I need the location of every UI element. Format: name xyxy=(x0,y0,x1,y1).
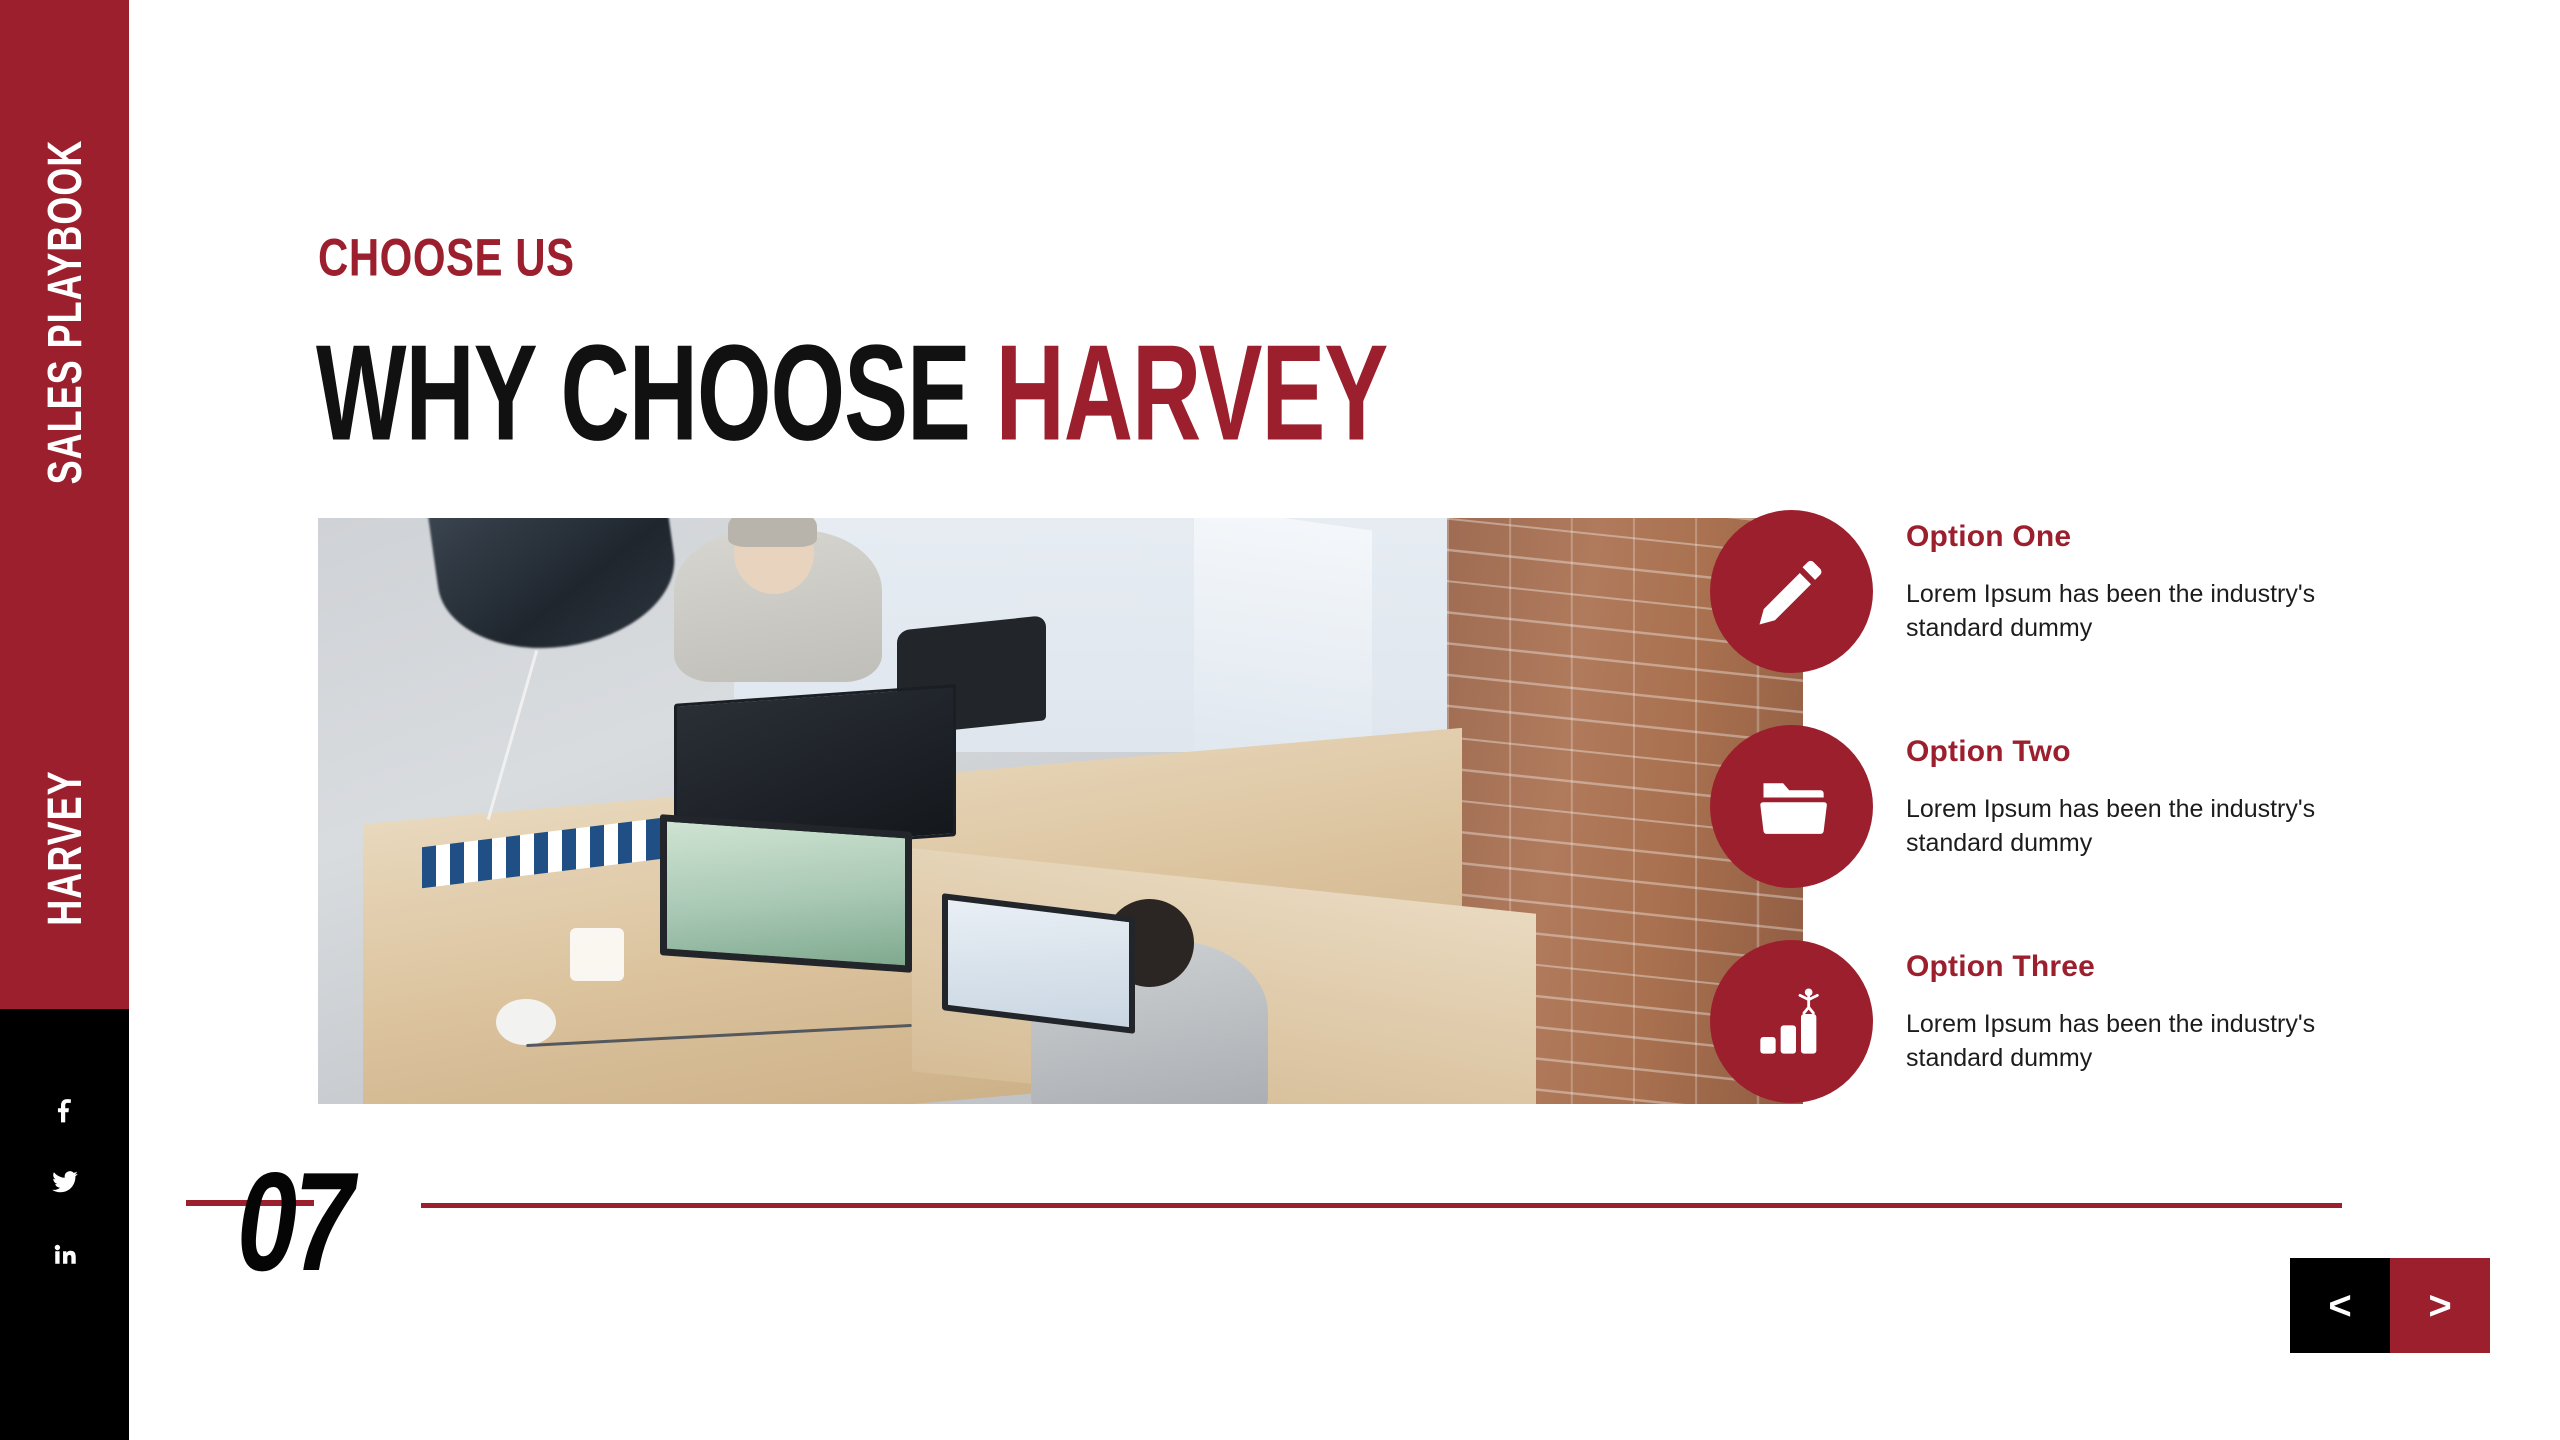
option-description: Lorem Ipsum has been the industry's stan… xyxy=(1906,793,2326,860)
option-title: Option Three xyxy=(1906,950,2376,984)
eyebrow-label: CHOOSE US xyxy=(318,228,575,288)
social-links xyxy=(0,1090,129,1274)
twitter-icon[interactable] xyxy=(45,1162,85,1202)
option-description: Lorem Ipsum has been the industry's stan… xyxy=(1906,578,2326,645)
next-slide-button[interactable]: > xyxy=(2390,1258,2490,1353)
left-sidebar: SALES PLAYBOOK HARVEY xyxy=(0,0,129,1440)
prev-slide-button[interactable]: < xyxy=(2290,1258,2390,1353)
sidebar-brand-vertical: SALES PLAYBOOK xyxy=(36,140,93,485)
folder-icon[interactable] xyxy=(1710,725,1873,888)
option-text: Option One Lorem Ipsum has been the indu… xyxy=(1906,520,2376,645)
option-description: Lorem Ipsum has been the industry's stan… xyxy=(1906,1008,2326,1075)
facebook-icon[interactable] xyxy=(45,1090,85,1130)
page-title-accent: HARVEY xyxy=(996,316,1388,468)
page-title-plain: WHY CHOOSE xyxy=(316,316,996,468)
option-item: Option Two Lorem Ipsum has been the indu… xyxy=(1710,725,2470,940)
option-item: Option One Lorem Ipsum has been the indu… xyxy=(1710,510,2470,725)
page-number: 07 xyxy=(237,1140,351,1303)
page-title: WHY CHOOSE HARVEY xyxy=(316,325,1387,461)
chevron-right-icon: > xyxy=(2428,1286,2451,1326)
option-text: Option Two Lorem Ipsum has been the indu… xyxy=(1906,735,2376,860)
chevron-left-icon: < xyxy=(2328,1286,2351,1326)
options-list: Option One Lorem Ipsum has been the indu… xyxy=(1710,510,2470,1155)
option-title: Option Two xyxy=(1906,735,2376,769)
sidebar-company-vertical: HARVEY xyxy=(36,770,93,925)
bar-chart-person-icon[interactable] xyxy=(1710,940,1873,1103)
linkedin-icon[interactable] xyxy=(45,1234,85,1274)
option-text: Option Three Lorem Ipsum has been the in… xyxy=(1906,950,2376,1075)
option-item: Option Three Lorem Ipsum has been the in… xyxy=(1710,940,2470,1155)
option-title: Option One xyxy=(1906,520,2376,554)
pencil-icon[interactable] xyxy=(1710,510,1873,673)
office-photo xyxy=(318,518,1803,1104)
page-number-rule-right xyxy=(421,1203,2342,1208)
office-photo-art xyxy=(318,518,1803,1104)
slide-navigation: < > xyxy=(2290,1258,2490,1353)
slide-root: SALES PLAYBOOK HARVEY CHOOSE US WHY CHOO… xyxy=(0,0,2560,1440)
